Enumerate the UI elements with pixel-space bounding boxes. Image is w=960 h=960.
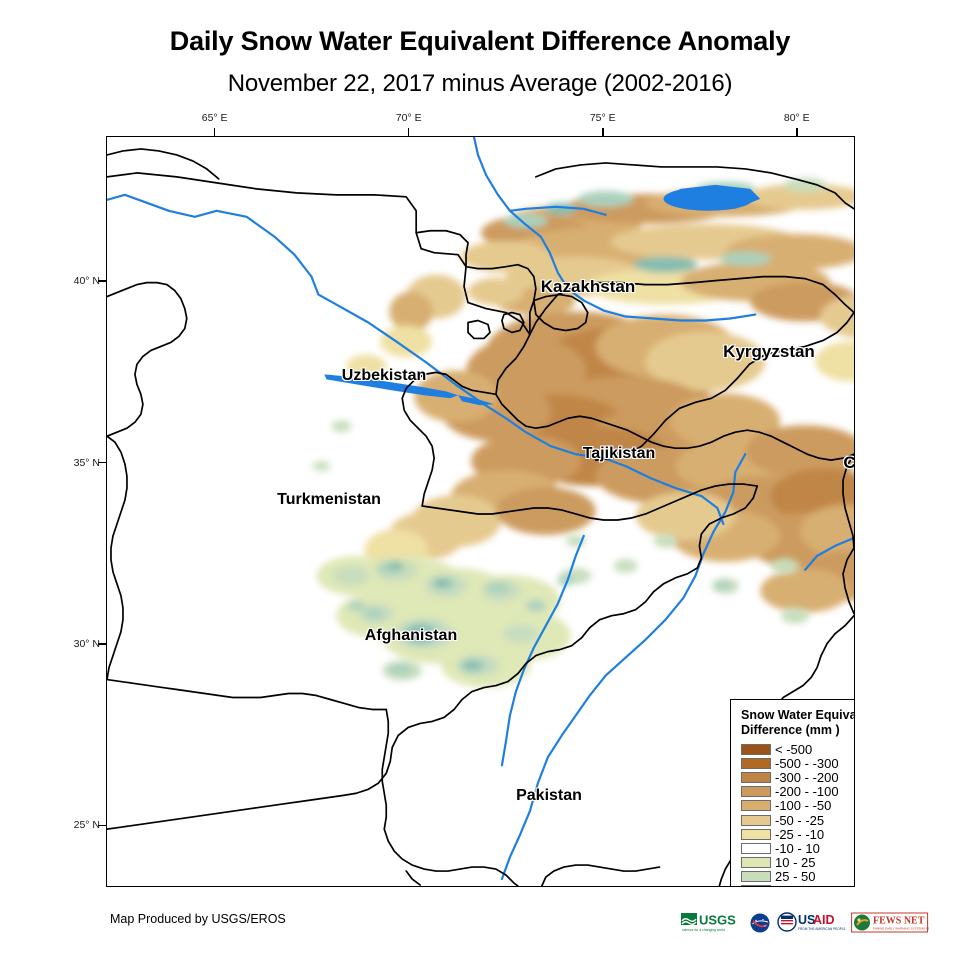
- legend-row: 10 - 25: [741, 856, 855, 870]
- legend-label: < -500: [775, 743, 812, 756]
- legend-label: -50 - -25: [775, 814, 824, 827]
- legend-swatch: [741, 758, 771, 769]
- map-canvas-frame[interactable]: KazakhstanUzbekistanKyrgyzstanTajikistan…: [106, 136, 855, 887]
- lat-label-2: 30° N: [62, 638, 100, 650]
- svg-text:science for a changing world: science for a changing world: [682, 928, 725, 932]
- legend-label: -25 - -10: [775, 828, 824, 841]
- legend-title-line1: Snow Water Equivalent: [741, 708, 855, 723]
- legend-label: 10 - 25: [775, 856, 815, 869]
- legend-title: Snow Water Equivalent Difference (mm ): [741, 708, 855, 738]
- legend-title-line2: Difference (mm ): [741, 723, 855, 738]
- legend-row: -10 - 10: [741, 841, 855, 855]
- legend-label: -300 - -200: [775, 771, 839, 784]
- svg-text:FROM THE AMERICAN PEOPLE: FROM THE AMERICAN PEOPLE: [798, 927, 845, 931]
- legend-row: 25 - 50: [741, 870, 855, 884]
- legend-label: -10 - 10: [775, 842, 820, 855]
- usaid-logo[interactable]: US AID FROM THE AMERICAN PEOPLE: [777, 911, 845, 935]
- legend-label: 50 - 100: [775, 884, 823, 887]
- legend-row: -300 - -200: [741, 770, 855, 784]
- lat-label-3: 25° N: [62, 819, 100, 831]
- legend-swatch: [741, 857, 771, 868]
- legend-row: -50 - -25: [741, 813, 855, 827]
- usgs-logo-mark: USGS science for a changing world: [681, 912, 743, 934]
- legend-row: -100 - -50: [741, 799, 855, 813]
- legend-swatch: [741, 772, 771, 783]
- map-credit: Map Produced by USGS/EROS: [110, 912, 286, 926]
- legend-swatch: [741, 786, 771, 797]
- legend-row: -500 - -300: [741, 756, 855, 770]
- svg-text:USGS: USGS: [699, 913, 736, 928]
- map-legend[interactable]: Snow Water Equivalent Difference (mm ) <…: [730, 699, 855, 887]
- page-title: Daily Snow Water Equivalent Difference A…: [0, 26, 960, 57]
- legend-row: 50 - 100: [741, 884, 855, 887]
- lon-label-0: 65° E: [202, 112, 228, 124]
- svg-text:FAMINE EARLY WARNING SYSTEMS N: FAMINE EARLY WARNING SYSTEMS NETWORK: [873, 927, 929, 931]
- lon-label-3: 80° E: [784, 112, 810, 124]
- lon-label-2: 75° E: [590, 112, 616, 124]
- legend-label: -200 - -100: [775, 785, 839, 798]
- lat-label-1: 35° N: [62, 457, 100, 469]
- svg-text:FEWS NET: FEWS NET: [873, 916, 925, 927]
- legend-swatch: [741, 871, 771, 882]
- nasa-logo[interactable]: [749, 911, 771, 935]
- legend-label: -500 - -300: [775, 757, 839, 770]
- legend-row: < -500: [741, 742, 855, 756]
- legend-row: -25 - -10: [741, 827, 855, 841]
- fewsnet-logo-mark: FEWS NET FAMINE EARLY WARNING SYSTEMS NE…: [851, 912, 929, 934]
- legend-swatch: [741, 815, 771, 826]
- legend-swatch: [741, 843, 771, 854]
- legend-label: -100 - -50: [775, 799, 831, 812]
- usaid-logo-mark: US AID FROM THE AMERICAN PEOPLE: [777, 912, 845, 934]
- lat-label-0: 40° N: [62, 275, 100, 287]
- usgs-logo[interactable]: USGS science for a changing world: [681, 911, 743, 935]
- legend-swatch: [741, 829, 771, 840]
- legend-row: -200 - -100: [741, 785, 855, 799]
- legend-swatch: [741, 800, 771, 811]
- legend-swatch: [741, 885, 771, 887]
- lon-label-1: 70° E: [396, 112, 422, 124]
- legend-label: 25 - 50: [775, 870, 815, 883]
- page-subtitle: November 22, 2017 minus Average (2002-20…: [0, 70, 960, 98]
- legend-swatch: [741, 744, 771, 755]
- nasa-logo-mark: [749, 912, 771, 934]
- agency-logos: USGS science for a changing world US AID…: [681, 908, 929, 938]
- legend-class-list: < -500-500 - -300-300 - -200-200 - -100-…: [741, 742, 855, 887]
- svg-text:AID: AID: [813, 913, 835, 927]
- fewsnet-logo[interactable]: FEWS NET FAMINE EARLY WARNING SYSTEMS NE…: [851, 911, 929, 935]
